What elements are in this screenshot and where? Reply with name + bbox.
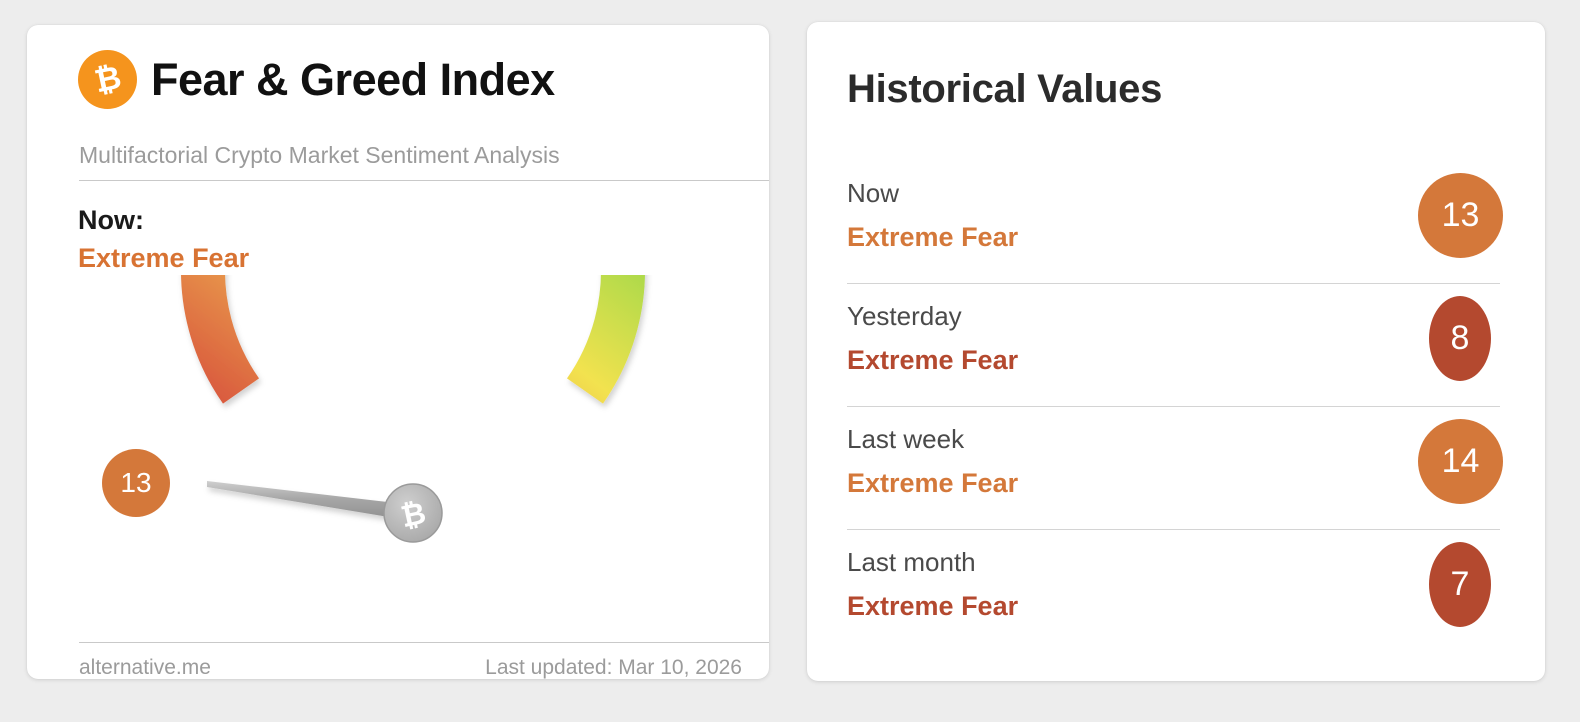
gauge-chart: ₿	[87, 275, 747, 620]
svg-text:₿: ₿	[91, 60, 124, 99]
gauge-value-badge: 13	[102, 449, 170, 517]
historical-row-score-badge: 14	[1418, 419, 1503, 504]
row-divider	[847, 406, 1500, 407]
row-divider	[847, 529, 1500, 530]
historical-values-card: Historical Values NowExtreme Fear13Yeste…	[807, 22, 1545, 681]
page-subtitle: Multifactorial Crypto Market Sentiment A…	[79, 142, 560, 169]
gauge-value-text: 13	[120, 467, 151, 499]
gauge-card-header: ₿ Fear & Greed Index	[78, 50, 555, 109]
historical-row-sentiment: Extreme Fear	[847, 345, 1018, 376]
now-sentiment-value: Extreme Fear	[78, 243, 249, 274]
historical-values-list: NowExtreme Fear13YesterdayExtreme Fear8L…	[807, 160, 1545, 652]
footer-divider	[79, 642, 769, 643]
bitcoin-hub-icon: ₿	[384, 484, 442, 542]
page-root: ₿ Fear & Greed Index Multifactorial Cryp…	[0, 0, 1580, 722]
historical-row-label: Now	[847, 178, 899, 209]
historical-row-score-text: 8	[1451, 319, 1470, 358]
historical-row-label: Last week	[847, 424, 964, 455]
historical-row: YesterdayExtreme Fear8	[807, 283, 1545, 406]
fear-greed-gauge-card: ₿ Fear & Greed Index Multifactorial Cryp…	[27, 25, 769, 679]
page-title: Fear & Greed Index	[151, 54, 555, 106]
historical-row-score-text: 13	[1442, 196, 1480, 235]
historical-row-score-text: 14	[1442, 442, 1480, 481]
historical-row: Last monthExtreme Fear7	[807, 529, 1545, 652]
historical-row-label: Yesterday	[847, 301, 962, 332]
historical-row-score-text: 7	[1451, 565, 1470, 604]
row-divider	[847, 283, 1500, 284]
historical-row-score-badge: 13	[1418, 173, 1503, 258]
historical-row-sentiment: Extreme Fear	[847, 591, 1018, 622]
historical-row: Last weekExtreme Fear14	[807, 406, 1545, 529]
historical-row: NowExtreme Fear13	[807, 160, 1545, 283]
historical-row-label: Last month	[847, 547, 976, 578]
last-updated-text: Last updated: Mar 10, 2026	[485, 656, 742, 680]
now-label: Now:	[78, 205, 144, 236]
historical-values-title: Historical Values	[847, 67, 1162, 112]
historical-row-sentiment: Extreme Fear	[847, 222, 1018, 253]
bitcoin-icon: ₿	[78, 50, 137, 109]
historical-row-score-badge: 8	[1429, 296, 1491, 381]
historical-row-sentiment: Extreme Fear	[847, 468, 1018, 499]
header-divider	[79, 180, 769, 181]
source-attribution: alternative.me	[79, 656, 211, 680]
historical-row-score-badge: 7	[1429, 542, 1491, 627]
